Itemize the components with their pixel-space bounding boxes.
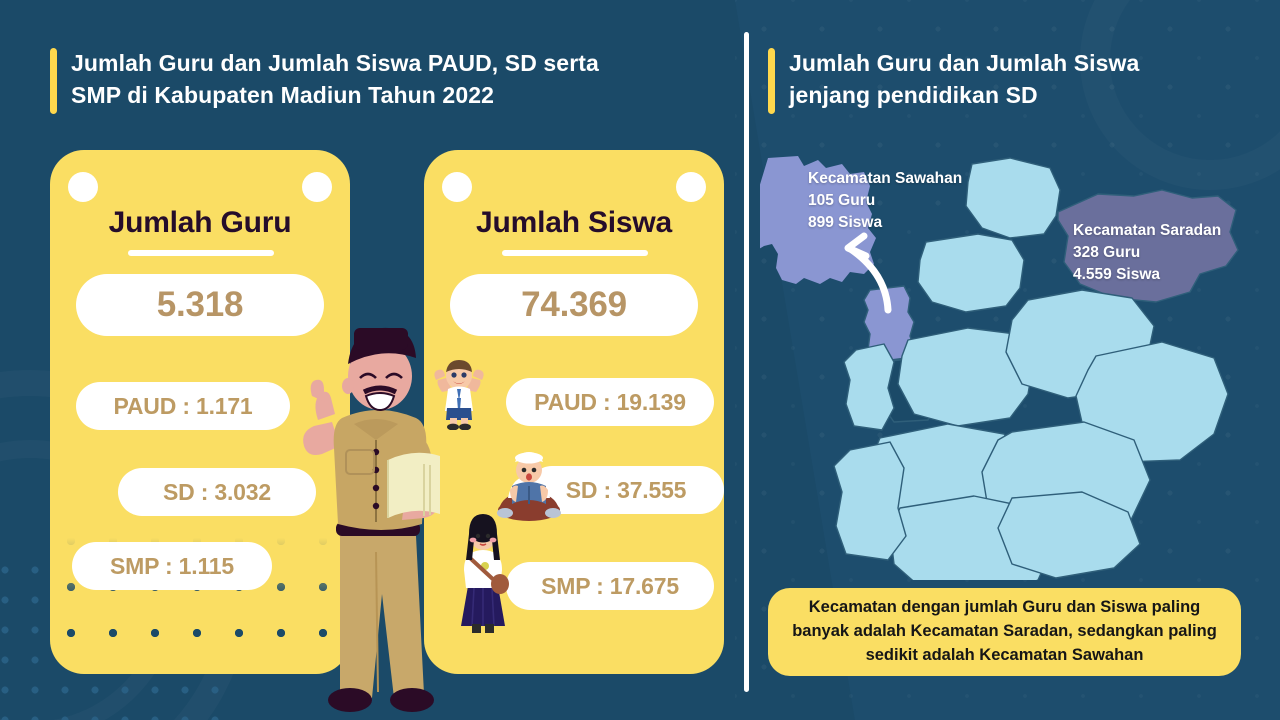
map-annotation-saradan: Kecamatan Saradan 328 Guru 4.559 Siswa [1073,220,1221,286]
left-panel-title: Jumlah Guru dan Jumlah Siswa PAUD, SD se… [71,48,599,111]
heading-accent-bar [768,48,775,114]
total-pill-siswa: 74.369 [450,274,698,336]
card-heading-siswa: Jumlah Siswa [424,206,724,240]
stat-pill-siswa-smp: SMP : 17.675 [506,562,714,610]
card-punch-hole-left [68,172,98,202]
stat-pill-guru-smp: SMP : 1.115 [72,542,272,590]
card-heading-rule [502,250,648,256]
map-caption-text: Kecamatan dengan jumlah Guru dan Siswa p… [784,596,1225,668]
stat-pill-guru-paud: PAUD : 1.171 [76,382,290,430]
map-district-gemarang [918,234,1024,312]
map-district-west-strip [844,344,894,430]
total-pill-guru: 5.318 [76,274,324,336]
card-heading-guru: Jumlah Guru [50,206,350,240]
panel-divider [744,32,749,692]
card-punch-hole-right [302,172,332,202]
card-punch-hole-right [676,172,706,202]
map-district-kare [966,158,1060,238]
left-panel-heading: Jumlah Guru dan Jumlah Siswa PAUD, SD se… [50,48,599,114]
paud-student-illustration [428,358,490,430]
madiun-district-map: Kecamatan Sawahan 105 Guru 899 Siswa Kec… [760,150,1265,580]
card-punch-hole-left [442,172,472,202]
right-panel-heading: Jumlah Guru dan Jumlah Siswa jenjang pen… [768,48,1139,114]
heading-accent-bar [50,48,57,114]
map-annotation-sawahan: Kecamatan Sawahan 105 Guru 899 Siswa [808,168,962,234]
right-panel-title: Jumlah Guru dan Jumlah Siswa jenjang pen… [789,48,1139,111]
stat-pill-guru-sd: SD : 3.032 [118,468,316,516]
map-caption-box: Kecamatan dengan jumlah Guru dan Siswa p… [768,588,1241,676]
card-heading-rule [128,250,274,256]
stat-pill-siswa-paud: PAUD : 19.139 [506,378,714,426]
smp-student-illustration [452,508,514,636]
map-district-southwest [834,442,906,560]
